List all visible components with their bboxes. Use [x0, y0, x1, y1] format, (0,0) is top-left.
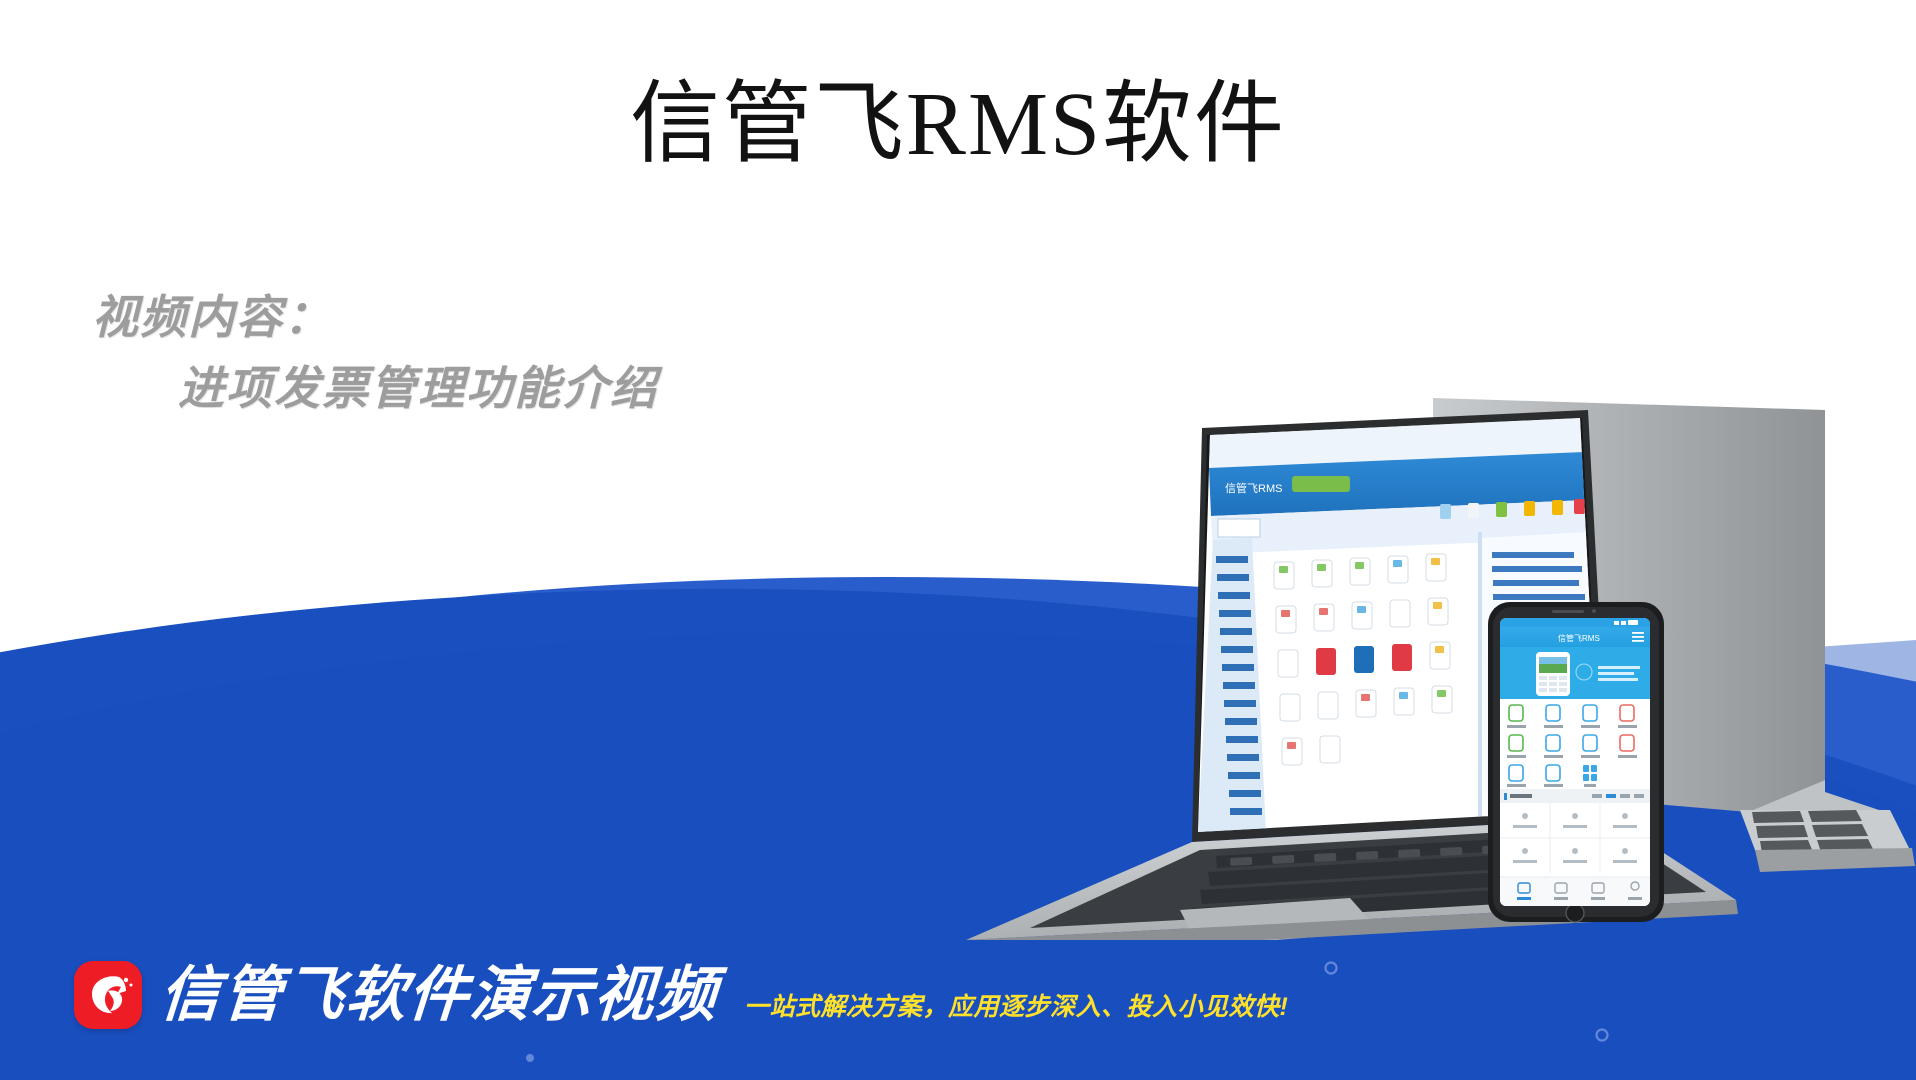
presentation-slide: 信管飞RMS软件 视频内容： 进项发票管理功能介绍: [0, 0, 1916, 1080]
device-illustration: 信管飞RMS: [880, 380, 1916, 940]
mobile-app-screen: 信管飞RMS: [1500, 618, 1650, 906]
brand-title: 信管飞软件演示视频: [158, 965, 720, 1025]
bottom-brand-bar: 信管飞软件演示视频 一站式解决方案，应用逐步深入、投入小见效快!: [0, 910, 1916, 1080]
hamburger-menu-icon[interactable]: [1632, 632, 1644, 642]
xinguanfei-bird-logo-icon: [74, 961, 142, 1029]
device-mockup-group: 信管飞RMS: [880, 380, 1916, 940]
slide-title: 信管飞RMS软件: [0, 72, 1916, 178]
svg-text:信管飞RMS: 信管飞RMS: [1558, 633, 1600, 643]
subtitle-line-1: 视频内容：: [92, 282, 658, 353]
smartphone: 信管飞RMS: [1488, 602, 1664, 922]
subtitle-block: 视频内容： 进项发票管理功能介绍: [92, 282, 658, 425]
brand-tagline: 一站式解决方案，应用逐步深入、投入小见效快!: [744, 987, 1288, 1023]
subtitle-line-2: 进项发票管理功能介绍: [92, 353, 658, 424]
svg-text:信管飞RMS: 信管飞RMS: [1225, 481, 1282, 495]
